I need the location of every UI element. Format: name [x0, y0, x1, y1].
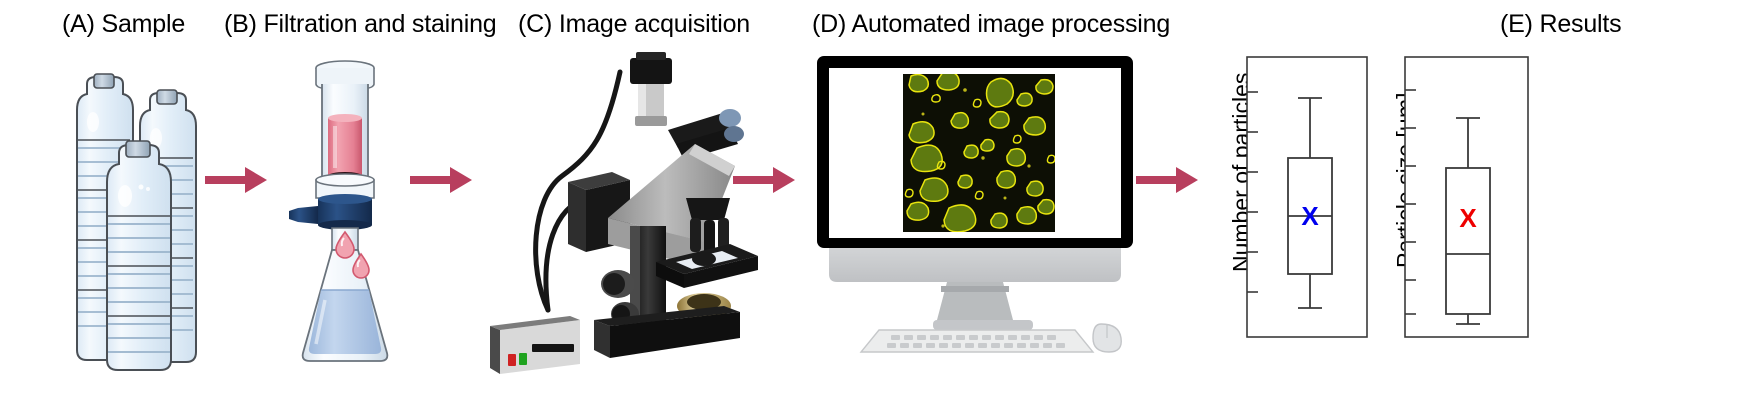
workflow-figure: (A) Sample (B) Filtration and staining (… — [0, 0, 1756, 403]
microscope-icon — [490, 48, 740, 363]
boxplot-2-mean-marker: X — [1459, 203, 1477, 233]
arrow-c-to-d — [733, 163, 797, 197]
micrograph-image — [903, 72, 1055, 232]
arrow-d-to-e — [1136, 163, 1200, 197]
computer-monitor-icon — [815, 52, 1135, 352]
boxplot-particle-size-svg: X — [1404, 56, 1529, 338]
panel-label-c: (C) Image acquisition — [518, 10, 750, 39]
boxplot-1-mean-marker: X — [1301, 201, 1319, 231]
sample-illustration — [55, 48, 255, 363]
water-bottles-icon — [55, 48, 255, 363]
filtration-apparatus-icon — [285, 48, 405, 363]
filtration-illustration — [285, 48, 405, 363]
boxplot-number-of-particles-svg: X — [1246, 56, 1368, 338]
microscope-control-unit — [490, 316, 580, 374]
arrow-a-to-b — [205, 163, 269, 197]
microscope-illustration — [490, 48, 740, 363]
bottle-front-center — [107, 141, 171, 370]
control-unit-display — [532, 344, 574, 352]
boxplot-2-box — [1446, 168, 1490, 314]
mouse-icon — [1093, 324, 1121, 352]
boxplot-number-of-particles: X — [1246, 56, 1368, 338]
monitor-illustration — [815, 52, 1135, 352]
keyboard-icon — [861, 330, 1093, 352]
panel-label-b: (B) Filtration and staining — [224, 10, 497, 39]
panel-label-d: (D) Automated image processing — [812, 10, 1170, 39]
boxplot-particle-size: X — [1404, 56, 1529, 338]
indicator-light-red — [508, 354, 516, 366]
monitor-base-plate — [829, 248, 1121, 282]
panel-label-a: (A) Sample — [62, 10, 185, 39]
indicator-light-green — [519, 353, 527, 365]
monitor-foot — [933, 320, 1033, 330]
panel-label-e: (E) Results — [1500, 10, 1621, 39]
arrow-b-to-c — [410, 163, 474, 197]
